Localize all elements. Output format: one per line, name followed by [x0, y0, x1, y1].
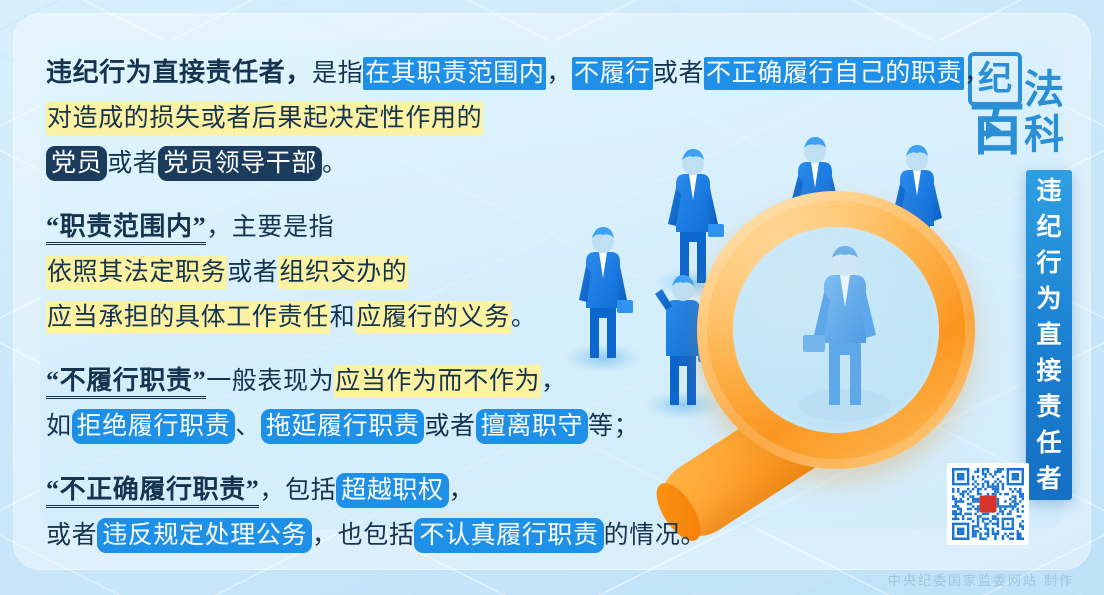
body-text: 违纪行为直接责任者，是指在其职责范围内，不履行或者不正确履行自己的职责，对造成的… — [46, 50, 666, 576]
text-segment-hl-blue: 不履行 — [572, 57, 653, 90]
text-line: “不正确履行职责”，包括超越职权， — [46, 467, 666, 513]
text-segment-plain: ，主要是指 — [206, 214, 334, 241]
text-segment-hl-blue-r: 超越职权 — [336, 473, 448, 508]
text-segment-term: “职责范围内” — [46, 212, 206, 245]
magnifying-glass — [615, 185, 985, 515]
banner-char-8: 者 — [1036, 461, 1061, 497]
text-segment-hl-yellow: 应履行的义务 — [355, 301, 511, 334]
text-line: “职责范围内”，主要是指 — [46, 204, 666, 250]
banner-char-1: 纪 — [1036, 209, 1061, 245]
text-segment-plain: 等； — [588, 413, 639, 440]
play-triangle-icon — [986, 120, 1001, 140]
banner-char-5: 接 — [1036, 353, 1061, 389]
banner-char-3: 为 — [1036, 281, 1061, 317]
qr-center-logo — [980, 496, 997, 513]
text-segment-plain: ，也包括 — [312, 522, 414, 549]
text-segment-plain: 或者 — [46, 522, 97, 549]
text-line: 应当承担的具体工作责任和应履行的义务。 — [46, 295, 666, 340]
banner-char-4: 直 — [1036, 317, 1061, 353]
text-segment-plain: ， — [449, 477, 475, 504]
text-line: 违纪行为直接责任者，是指在其职责范围内，不履行或者不正确履行自己的职责， — [46, 50, 666, 96]
paragraph-scope-of-duty: “职责范围内”，主要是指依照其法定职务或者组织交办的应当承担的具体工作责任和应履… — [46, 204, 666, 340]
text-line: 或者违反规定处理公务，也包括不认真履行职责的情况。 — [46, 513, 666, 558]
text-segment-hl-blue-r: 擅离职守 — [476, 409, 588, 444]
text-segment-hl-yellow: 应当作为而不作为 — [334, 365, 541, 398]
text-segment-plain: 或者 — [653, 60, 704, 87]
text-segment-plain: 或者 — [424, 413, 475, 440]
text-segment-plain: ， — [546, 60, 572, 87]
banner-char-0: 违 — [1036, 173, 1061, 209]
text-segment-hl-blue-r: 违反规定处理公务 — [97, 518, 312, 553]
paragraph-definition: 违纪行为直接责任者，是指在其职责范围内，不履行或者不正确履行自己的职责，对造成的… — [46, 50, 666, 186]
text-segment-lead: 违纪行为直接责任者， — [46, 58, 312, 87]
text-segment-plain: 。 — [322, 150, 348, 177]
paragraph-improper-performance: “不正确履行职责”，包括超越职权，或者违反规定处理公务，也包括不认真履行职责的情… — [46, 467, 666, 558]
poster-canvas: 纪 百 法 科 违纪行为直接责任者 违纪行为直接责任者，是指在其职责范围内，不履… — [0, 0, 1104, 595]
text-segment-hl-navy: 党员领导干部 — [158, 146, 322, 181]
logo-char-fa: 法 — [1024, 68, 1080, 113]
paragraph-failure-to-perform: “不履行职责”一般表现为应当作为而不作为，如拒绝履行职责、拖延履行职责或者擅离职… — [46, 358, 666, 449]
text-segment-hl-yellow: 组织交办的 — [278, 256, 408, 289]
text-segment-hl-blue-r: 拒绝履行职责 — [72, 409, 236, 444]
text-segment-plain: ， — [541, 368, 567, 395]
text-line: 依照其法定职务或者组织交办的 — [46, 250, 666, 295]
logo-char-ke: 科 — [1024, 113, 1080, 158]
text-segment-hl-blue: 在其职责范围内 — [363, 57, 546, 90]
text-segment-plain: 或者 — [227, 259, 278, 286]
text-segment-hl-yellow: 依照其法定职务 — [46, 256, 227, 289]
banner-char-7: 任 — [1036, 425, 1061, 461]
text-segment-plain: 如 — [46, 413, 72, 440]
text-segment-hl-blue-r: 拖延履行职责 — [261, 409, 425, 444]
footer-credit: 中央纪委国家监委网站 制作 — [888, 570, 1074, 589]
magnifier-lens-content — [733, 227, 939, 433]
logo-chars-fake: 法 科 — [1024, 68, 1080, 158]
banner-char-2: 行 — [1036, 245, 1061, 281]
text-line: 党员或者党员领导干部。 — [46, 141, 666, 186]
text-segment-hl-blue: 不正确履行自己的职责 — [704, 57, 964, 90]
qr-code[interactable] — [952, 468, 1024, 540]
text-segment-hl-yellow: 应当承担的具体工作责任 — [46, 301, 330, 334]
text-line: “不履行职责”一般表现为应当作为而不作为， — [46, 358, 666, 404]
text-segment-hl-navy: 党员 — [46, 146, 107, 181]
text-segment-plain: 或者 — [107, 150, 158, 177]
text-segment-hl-blue-r: 不认真履行职责 — [414, 518, 603, 553]
text-segment-plain: 、 — [235, 413, 261, 440]
text-segment-plain: 一般表现为 — [206, 368, 334, 395]
text-segment-term: “不正确履行职责” — [46, 475, 259, 508]
magnified-figure-svg — [733, 227, 939, 433]
text-segment-plain: 。 — [511, 304, 537, 331]
text-segment-plain: 的情况。 — [604, 522, 706, 549]
text-segment-term: “不履行职责” — [46, 366, 206, 399]
text-line: 如拒绝履行职责、拖延履行职责或者擅离职守等； — [46, 404, 666, 449]
banner-char-6: 责 — [1036, 389, 1061, 425]
text-line: 对造成的损失或者后果起决定性作用的 — [46, 96, 666, 141]
magnifier-lens — [697, 191, 975, 469]
text-segment-plain: ， — [964, 60, 990, 87]
text-segment-hl-yellow: 对造成的损失或者后果起决定性作用的 — [46, 102, 483, 135]
text-segment-plain: ，包括 — [259, 477, 336, 504]
vertical-title-banner: 违纪行为直接责任者 — [1026, 170, 1072, 500]
qr-code-container[interactable] — [947, 463, 1029, 545]
text-segment-plain: 和 — [330, 304, 356, 331]
text-segment-plain: 是指 — [312, 60, 363, 87]
